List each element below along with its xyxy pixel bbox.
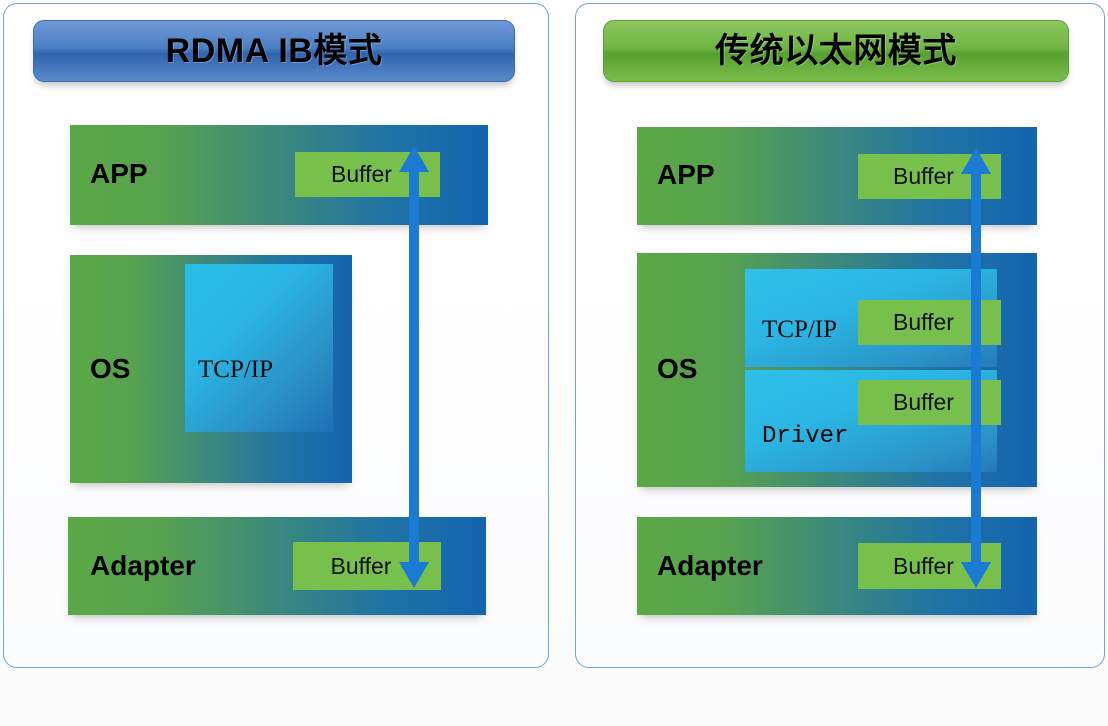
buffer-adapter-ethernet-label: Buffer bbox=[893, 555, 954, 578]
layer-app-rdma-label: APP bbox=[90, 160, 148, 188]
proto-tcpip-rdma bbox=[185, 264, 333, 432]
layer-adapter-ethernet-label: Adapter bbox=[657, 552, 763, 580]
panel-title-traditional-ethernet: 传统以太网模式 bbox=[603, 20, 1069, 82]
buffer-adapter-rdma-label: Buffer bbox=[331, 555, 392, 578]
layer-adapter-rdma-label: Adapter bbox=[90, 552, 196, 580]
panel-title-rdma-ib-text: RDMA IB模式 bbox=[166, 34, 383, 68]
layer-app-ethernet-label: APP bbox=[657, 161, 715, 189]
diagram-canvas: RDMA IB模式 APP Buffer OS TCP/IP Adapter B… bbox=[0, 0, 1108, 726]
buffer-driver-ethernet-label: Buffer bbox=[893, 391, 954, 414]
proto-driver-ethernet-label: Driver bbox=[762, 425, 848, 449]
proto-tcpip-rdma-label: TCP/IP bbox=[198, 357, 273, 382]
proto-tcpip-ethernet-label: TCP/IP bbox=[762, 317, 837, 342]
buffer-tcpip-ethernet-label: Buffer bbox=[893, 311, 954, 334]
data-path-arrow-ethernet bbox=[955, 148, 997, 588]
buffer-app-ethernet-label: Buffer bbox=[893, 165, 954, 188]
panel-title-rdma-ib: RDMA IB模式 bbox=[33, 20, 515, 82]
buffer-app-rdma-label: Buffer bbox=[331, 163, 392, 186]
data-path-arrow-rdma bbox=[393, 146, 435, 588]
layer-os-rdma-label: OS bbox=[90, 355, 130, 383]
panel-title-traditional-ethernet-text: 传统以太网模式 bbox=[715, 34, 957, 68]
layer-os-ethernet-label: OS bbox=[657, 355, 697, 383]
